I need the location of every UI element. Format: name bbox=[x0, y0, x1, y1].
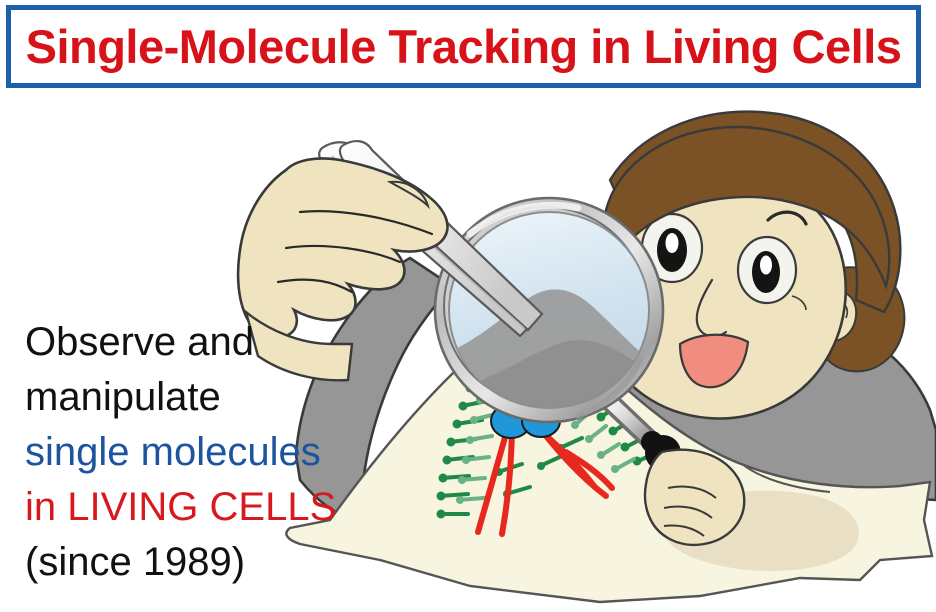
page-title: Single-Molecule Tracking in Living Cells bbox=[26, 19, 902, 74]
caption-line-5: (since 1989) bbox=[25, 535, 395, 590]
caption-line-4: in LIVING CELLS bbox=[25, 480, 395, 535]
title-banner: Single-Molecule Tracking in Living Cells bbox=[6, 5, 921, 88]
caption-line-3: single molecules bbox=[25, 425, 395, 480]
poster-root: Single-Molecule Tracking in Living Cells… bbox=[0, 0, 936, 612]
caption-line-2: manipulate bbox=[25, 370, 395, 425]
caption-line-1: Observe and bbox=[25, 315, 395, 370]
caption-block: Observe and manipulate single molecules … bbox=[25, 315, 395, 590]
